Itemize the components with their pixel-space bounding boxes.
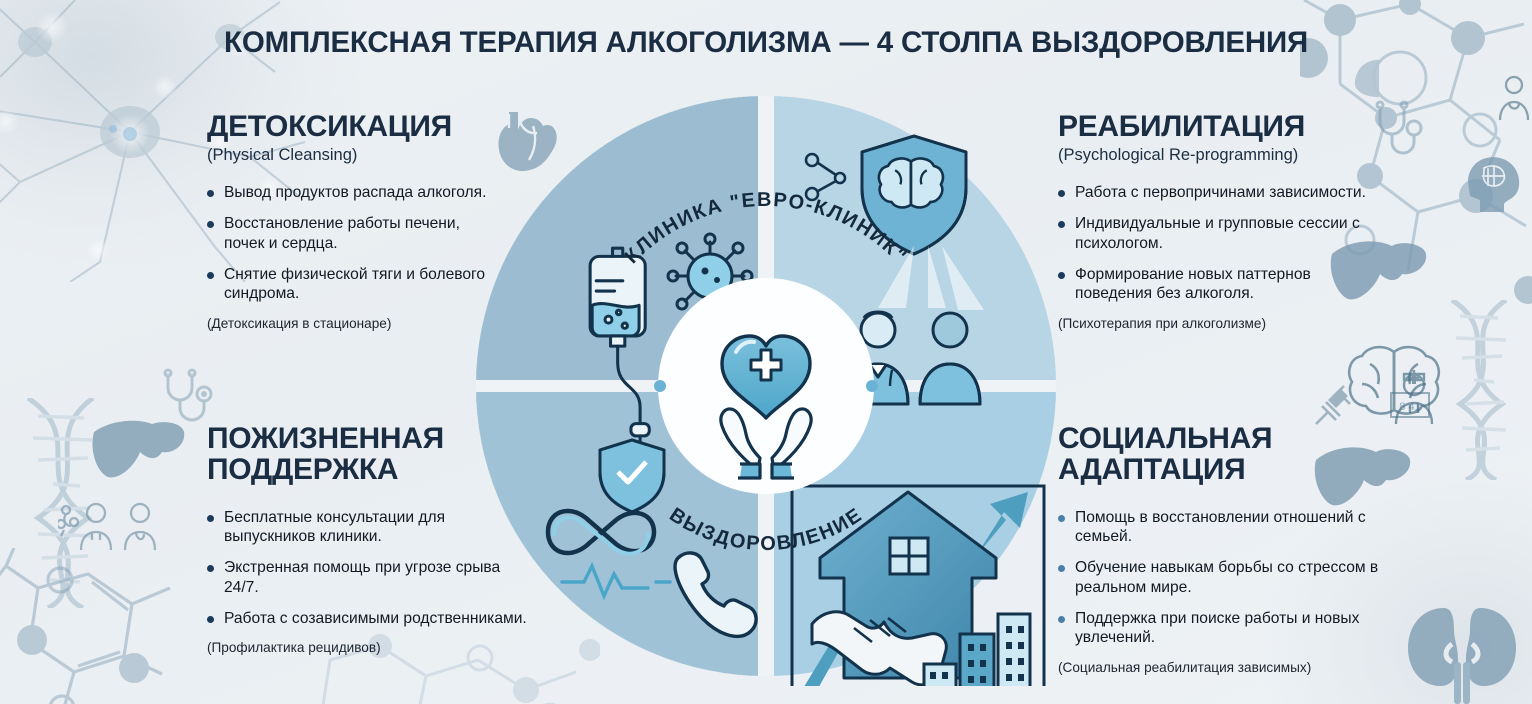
- pillar-subtitle: (Psychological Re-programming): [1058, 146, 1388, 165]
- list-item: Формирование новых паттернов поведения б…: [1058, 265, 1388, 304]
- pillar-title: СОЦИАЛЬНАЯ АДАПТАЦИЯ: [1058, 424, 1388, 486]
- doctor-avatar-icon: [1494, 72, 1532, 122]
- list-item: Поддержка при поиске работы и новых увле…: [1058, 609, 1388, 648]
- pillar-social-adaptation: СОЦИАЛЬНАЯ АДАПТАЦИЯ Помощь в восстановл…: [1058, 424, 1388, 675]
- svg-text:8 41: 8 41: [1399, 401, 1420, 413]
- pillar-title: ПОЖИЗНЕННАЯ ПОДДЕРЖКА: [207, 424, 527, 486]
- pillar-bullet-list: Работа с первопричинами зависимости. Инд…: [1058, 183, 1388, 304]
- dna-helix-icon: [1436, 300, 1532, 480]
- list-item: Индивидуальные и групповые сессии с псих…: [1058, 214, 1388, 253]
- infographic-poster: 8 41 КОМПЛЕКСНАЯ ТЕРАПИЯ АЛКОГОЛИЗМА — 4…: [0, 0, 1532, 704]
- pillar-bullet-list: Помощь в восстановлении отношений с семь…: [1058, 508, 1388, 648]
- list-item: Помощь в восстановлении отношений с семь…: [1058, 508, 1388, 547]
- pillar-note: (Социальная реабилитация зависимых): [1058, 660, 1388, 675]
- pillar-rehabilitation: РЕАБИЛИТАЦИЯ (Psychological Re-programmi…: [1058, 112, 1388, 331]
- doctor-avatar-icon: [58, 500, 180, 552]
- list-item: Снятие физической тяги и болевого синдро…: [207, 265, 497, 304]
- molecule-hexagon-icon: 8 41: [1390, 392, 1430, 418]
- dna-helix-icon: [8, 398, 128, 608]
- list-item: Работа с первопричинами зависимости.: [1058, 183, 1388, 202]
- badge-dot-right: [866, 380, 878, 392]
- list-item: Восстановление работы печени, почек и се…: [207, 214, 497, 253]
- list-item: Бесплатные консультации для выпускников …: [207, 508, 527, 547]
- nurse-avatar-icon: [1386, 368, 1442, 426]
- molecule-hexagon-icon: [0, 548, 182, 704]
- pillar-bullet-list: Бесплатные консультации для выпускников …: [207, 508, 527, 629]
- kidneys-icon: [1400, 600, 1524, 704]
- pillar-note: (Психотерапия при алкоголизме): [1058, 316, 1388, 331]
- pillar-bullet-list: Вывод продуктов распада алкоголя. Восста…: [207, 183, 497, 304]
- list-item: Обучение навыкам борьбы со стрессом в ре…: [1058, 558, 1388, 597]
- pillar-title: РЕАБИЛИТАЦИЯ: [1058, 112, 1388, 143]
- list-item: Вывод продуктов распада алкоголя.: [207, 183, 497, 202]
- pillar-subtitle: (Physical Cleansing): [207, 146, 497, 165]
- brain-icon: [1340, 340, 1448, 432]
- head-brain-icon: [1458, 152, 1524, 214]
- badge-dot-left: [654, 380, 666, 392]
- list-item: Работа с созависимыми родственниками.: [207, 609, 527, 628]
- pillar-lifelong-support: ПОЖИЗНЕННАЯ ПОДДЕРЖКА Бесплатные консуль…: [207, 424, 527, 655]
- pillar-note: (Детоксикация в стационаре): [207, 316, 497, 331]
- pillar-detox: ДЕТОКСИКАЦИЯ (Physical Cleansing) Вывод …: [207, 112, 497, 331]
- page-title: КОМПЛЕКСНАЯ ТЕРАПИЯ АЛКОГОЛИЗМА — 4 СТОЛ…: [0, 26, 1532, 60]
- four-pillars-diagram: КЛИНИКА "ЕВРО-КЛИНИК" ВЫЗДОРОВЛЕНИЕ: [476, 86, 1056, 686]
- liver-icon: [90, 418, 186, 486]
- pillar-title: ДЕТОКСИКАЦИЯ: [207, 112, 497, 143]
- stethoscope-icon: [158, 368, 214, 430]
- pillar-note: (Профилактика рецидивов): [207, 640, 527, 655]
- list-item: Экстренная помощь при угрозе срыва 24/7.: [207, 558, 527, 597]
